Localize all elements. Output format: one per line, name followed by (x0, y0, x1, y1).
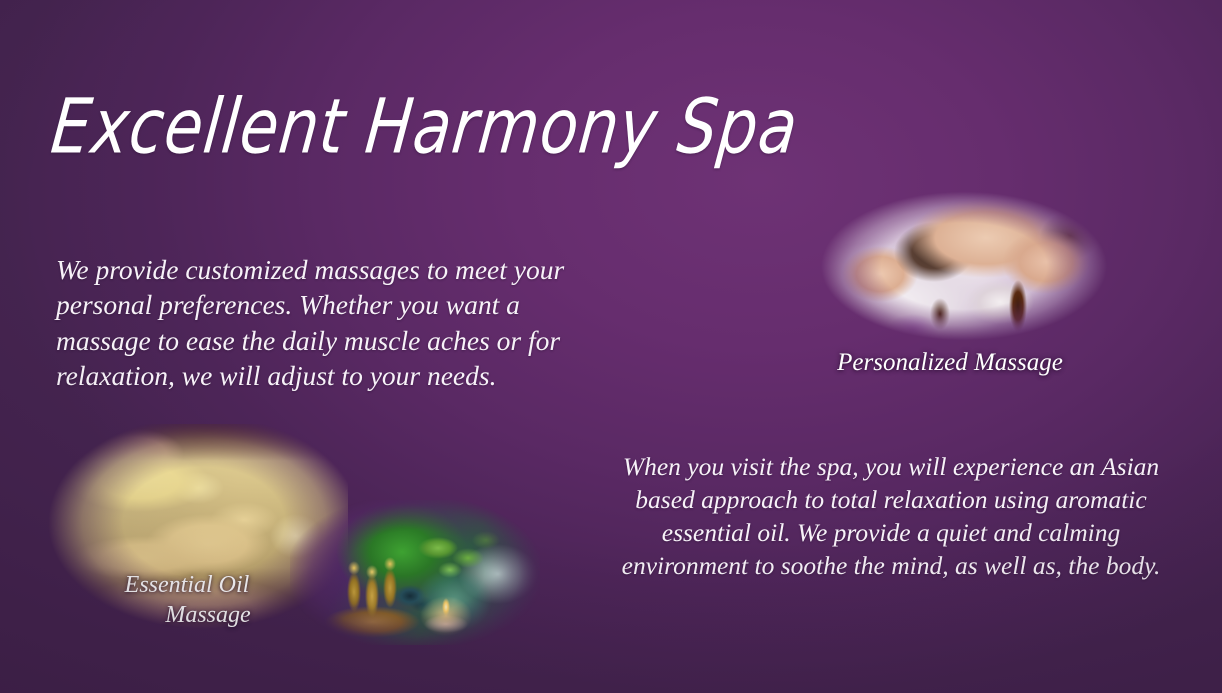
photo-personalized-massage (818, 190, 1110, 342)
caption-essential-oil-line2: Massage (62, 600, 312, 630)
paragraph-customized-massages: We provide customized massages to meet y… (56, 252, 586, 393)
spa-poster: Excellent Harmony Spa We provide customi… (0, 0, 1222, 693)
caption-personalized-massage: Personalized Massage (790, 348, 1110, 378)
photo-oil-bottles-candle-image (290, 500, 540, 645)
photo-oil-bottles-candle (290, 500, 540, 645)
caption-essential-oil-line1: Essential Oil (125, 572, 250, 598)
photo-personalized-massage-image (818, 190, 1110, 342)
page-title: Excellent Harmony Spa (48, 89, 756, 165)
caption-essential-oil-massage: Essential Oil Massage (62, 570, 312, 630)
paragraph-asian-approach: When you visit the spa, you will experie… (606, 450, 1176, 583)
